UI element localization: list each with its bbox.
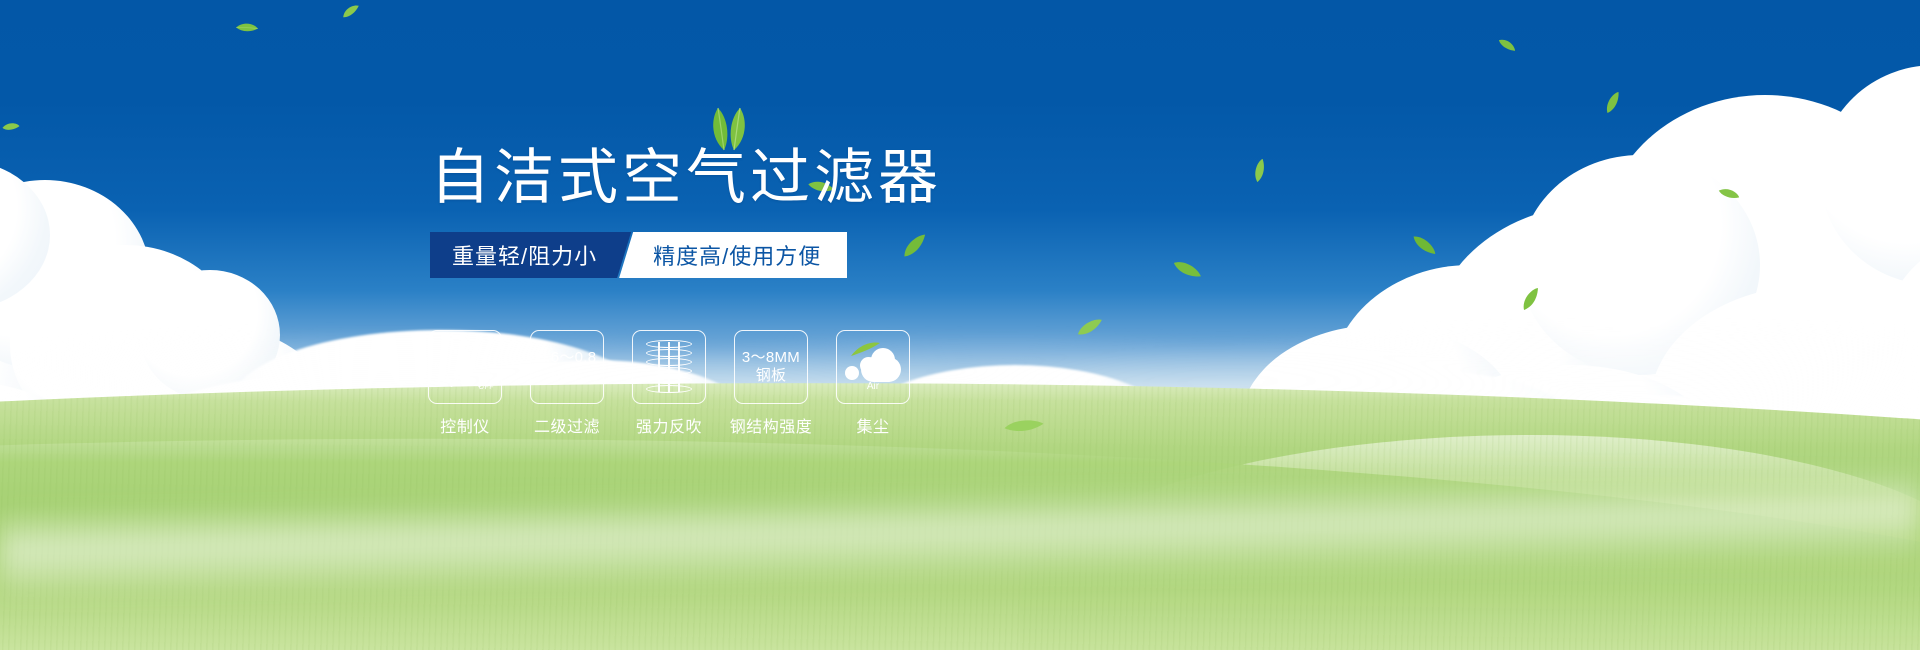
subtitle-right: 精度高/使用方便 <box>619 232 847 278</box>
subtitle-left: 重量轻/阻力小 <box>430 232 631 278</box>
feature-list: NO OFF 控制仪 0.6～0.8 MPA 二级过滤 <box>428 330 910 437</box>
title-block: 自洁式空气过滤器 <box>430 148 942 208</box>
feature-item[interactable]: Air 集尘 <box>836 330 910 437</box>
feature-icon-box: 0.6～0.8 MPA <box>530 330 604 404</box>
filter-stack-icon <box>646 340 692 394</box>
feature-item[interactable]: NO OFF 控制仪 <box>428 330 502 437</box>
feature-caption: 钢结构强度 <box>730 413 813 437</box>
feature-caption: 控制仪 <box>440 413 490 437</box>
air-cloud-icon: Air <box>845 344 901 390</box>
sprout-leaves-icon <box>702 106 756 157</box>
feature-caption: 集尘 <box>856 413 889 437</box>
feature-caption: 二级过滤 <box>534 413 600 437</box>
feature-unit: 钢板 <box>742 367 800 385</box>
product-banner: 自洁式空气过滤器 重量轻/阻力小 精度高/使用方便 <box>0 0 1920 650</box>
banner-content: 自洁式空气过滤器 重量轻/阻力小 精度高/使用方便 <box>0 0 1920 650</box>
feature-unit: MPA <box>538 367 597 385</box>
feature-icon-box: NO OFF <box>428 330 502 404</box>
feature-item[interactable]: 0.6～0.8 MPA 二级过滤 <box>530 330 604 437</box>
feature-caption: 强力反吹 <box>636 413 702 437</box>
gauge-label-no: NO <box>435 363 447 371</box>
feature-item[interactable]: 强力反吹 <box>632 330 706 437</box>
feature-icon-box: Air <box>836 330 910 404</box>
gauge-label-off: OFF <box>479 384 495 392</box>
subtitle-badge: 重量轻/阻力小 精度高/使用方便 <box>430 232 847 278</box>
steel-plate-icon: 3～8MM 钢板 <box>742 349 800 384</box>
page-title: 自洁式空气过滤器 <box>430 148 942 208</box>
feature-icon-box: 3～8MM 钢板 <box>734 330 808 404</box>
feature-item[interactable]: 3～8MM 钢板 钢结构强度 <box>734 330 808 437</box>
feature-icon-box <box>632 330 706 404</box>
air-label: Air <box>845 381 901 393</box>
feature-value: 0.6～0.8 <box>538 349 597 367</box>
pressure-icon: 0.6～0.8 MPA <box>538 349 597 384</box>
gauge-icon: NO OFF <box>436 338 494 396</box>
feature-value: 3～8MM <box>742 349 800 367</box>
